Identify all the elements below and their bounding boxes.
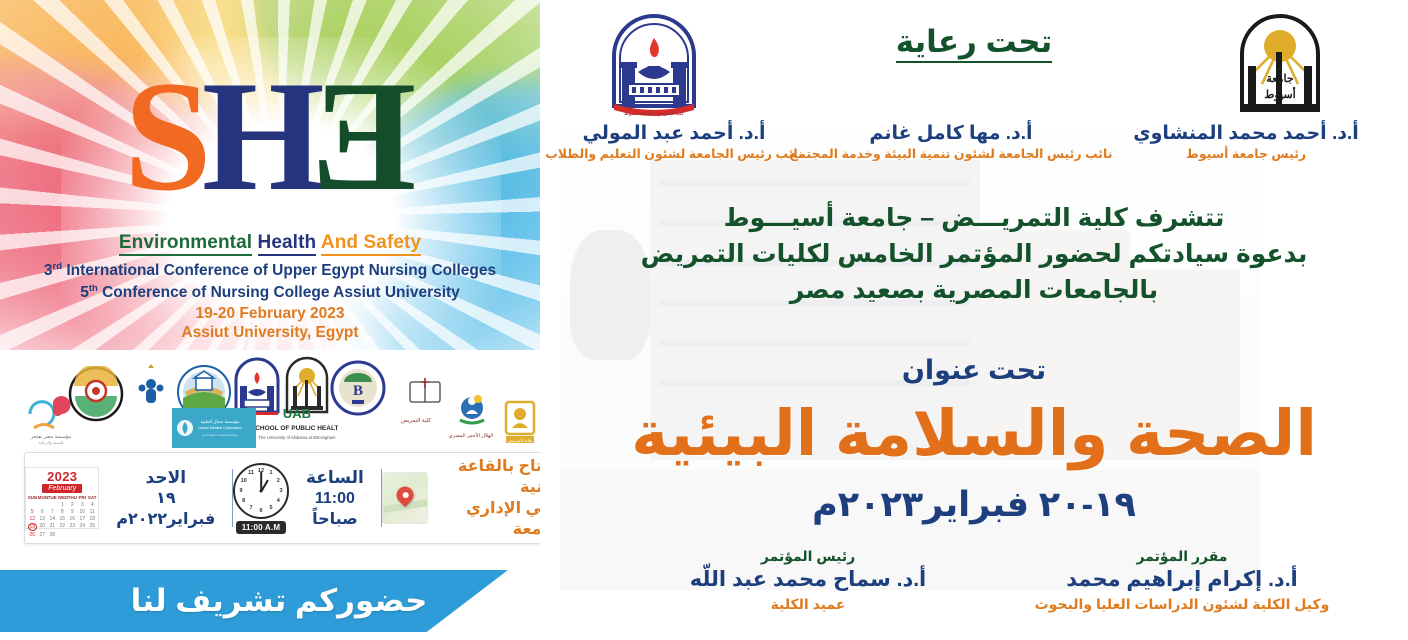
svg-text:a member of Gamal Group: a member of Gamal Group xyxy=(202,433,238,437)
conference-president: رئيس المؤتمر أ.د. سماح محمد عبد اللّه عم… xyxy=(638,546,978,614)
assiut-university-logo: جامعة أسيوط xyxy=(1220,10,1340,122)
main-content-panel: تحت رعاية كلية التمريض - xyxy=(540,0,1408,640)
main-date-text: ١٩-٢٠ فبراير٢٠٢٣م xyxy=(812,485,1136,524)
event-date-arabic: ١٩ فبراير٢٠٢٢م xyxy=(111,488,220,530)
svg-text:أسيوط: أسيوط xyxy=(1264,87,1295,101)
svg-text:UAB: UAB xyxy=(283,406,311,421)
partner-logo-gamal-medical-corporation-logo: مؤسسة جمال الطبية Gamal Medical Corporat… xyxy=(172,408,256,448)
under-title-label: تحت عنوان xyxy=(540,355,1408,386)
ehs-letter-h: H xyxy=(202,58,321,216)
tagline-environmental: Environmental xyxy=(119,232,252,256)
president-title: عميد الكلية xyxy=(638,594,978,614)
conf1-text: International Conference of Upper Egypt … xyxy=(62,262,496,279)
conference-place-english: Assiut University, Egypt xyxy=(0,323,540,342)
event-time-cell: 123456789101112 11:00 A.M الساعة 11:00 ص… xyxy=(233,453,381,543)
tagline-and-safety: And Safety xyxy=(321,232,421,256)
svg-text:SCHOOL OF PUBLIC HEALTH: SCHOOL OF PUBLIC HEALTH xyxy=(256,425,338,432)
svg-text:Gamal Medical Corporation: Gamal Medical Corporation xyxy=(198,426,242,430)
dignitary-2: أ.د. مها كامل غانم نائب رئيس الجامعة لشئ… xyxy=(786,122,1116,163)
map-pin-icon xyxy=(382,472,428,524)
conf1-number: 3 xyxy=(44,262,53,279)
conference-poster: EHS Environmental Health And Safety 3rd … xyxy=(0,0,1408,640)
footer-organizers: مقرر المؤتمر أ.د. إكرام إبراهيم محمد وكي… xyxy=(540,546,1408,636)
svg-text:الهلال الأحمر المصري: الهلال الأحمر المصري xyxy=(449,431,493,439)
event-day-name: الاحد xyxy=(111,467,220,488)
conf1-ordinal: rd xyxy=(53,261,63,272)
partner-logo-nursing-syndicate-logo: نقابة التمريض xyxy=(498,398,542,448)
dignitary-1-title: رئيس جامعة أسيوط xyxy=(1096,146,1396,163)
ehs-wordmark: EHS xyxy=(0,58,540,216)
patronage-title-text: تحت رعاية xyxy=(896,24,1053,63)
tagline-health: Health xyxy=(258,232,317,256)
event-date-text: الاحد ١٩ فبراير٢٠٢٢م xyxy=(99,467,232,530)
dignitary-1-name: أ.د. أحمد محمد المنشاوي xyxy=(1096,122,1396,146)
rapporteur-role: مقرر المؤتمر xyxy=(972,546,1392,566)
partner-logo-arab-council-logo xyxy=(68,366,124,422)
invitation-line-2: بدعوة سيادتكم لحضور المؤتمر الخامس لكليا… xyxy=(540,236,1408,272)
clock-time-badge: 11:00 A.M xyxy=(236,521,286,534)
dignitary-2-name: أ.د. مها كامل غانم xyxy=(786,122,1116,146)
event-details-bar: 2023 February SUNMONTUEWEDTHUFRISAT12345… xyxy=(24,452,588,544)
partner-logo-beni-suef-university-logo: B xyxy=(330,360,386,416)
president-role: رئيس المؤتمر xyxy=(638,546,978,566)
dignitary-3: أ.د. أحمد عبد المولي نائب رئيس الجامعة ل… xyxy=(540,122,808,163)
under-title-text: تحت عنوان xyxy=(902,355,1046,385)
conference-subtitles: 3rd International Conference of Upper Eg… xyxy=(0,258,540,342)
welcome-ribbon: حضوركم تشريف لنا xyxy=(0,570,508,632)
calendar-icon: 2023 February SUNMONTUEWEDTHUFRISAT12345… xyxy=(25,467,99,529)
conference-line-1: 3rd International Conference of Upper Eg… xyxy=(0,258,540,280)
dignitary-3-title: نائب رئيس الجامعة لشئون التعليم والطلاب xyxy=(540,146,808,163)
nursing-college-logo: كلية التمريض - جامعة أسيوط xyxy=(600,14,708,118)
calendar-year: 2023 xyxy=(47,470,77,483)
conference-date-english: 19-20 February 2023 xyxy=(0,304,540,323)
conference-line-2: 5th Conference of Nursing College Assiut… xyxy=(0,280,540,302)
rapporteur-name: أ.د. إكرام إبراهيم محمد xyxy=(972,566,1392,594)
ehs-letter-e: E xyxy=(315,58,416,216)
calendar-month: February xyxy=(42,484,82,493)
conf2-text: Conference of Nursing College Assiut Uni… xyxy=(98,284,460,301)
president-name: أ.د. سماح محمد عبد اللّه xyxy=(638,566,978,594)
partner-logos-row: مؤسسة مصر تفتخر للتنمية والرعاية xyxy=(6,352,538,450)
time-label: الساعة xyxy=(301,467,369,488)
partner-logo-red-crescent-society-logo: الهلال الأحمر المصري xyxy=(438,382,500,442)
conference-main-date: ١٩-٢٠ فبراير٢٠٢٣م xyxy=(540,485,1408,525)
svg-text:B: B xyxy=(353,383,363,399)
conf2-ordinal: th xyxy=(89,283,98,294)
time-value: 11:00 صباحاً xyxy=(301,488,369,530)
dignitary-2-title: نائب رئيس الجامعة لشئون تنمية البيئة وخد… xyxy=(786,146,1116,163)
partner-logo-uab-school-of-public-health-logo: UAB SCHOOL OF PUBLIC HEALTH The Universi… xyxy=(256,404,338,448)
svg-text:للتنمية والرعاية: للتنمية والرعاية xyxy=(38,440,63,445)
svg-text:The University of Alabama at B: The University of Alabama at Birmingham xyxy=(258,435,336,440)
conference-main-title: الصحة والسلامة البيئية xyxy=(540,398,1408,470)
main-title-text: الصحة والسلامة البيئية xyxy=(631,399,1317,469)
event-date-cell: 2023 February SUNMONTUEWEDTHUFRISAT12345… xyxy=(25,453,232,543)
calendar-grid: SUNMONTUEWEDTHUFRISAT1234567891011121314… xyxy=(28,495,97,538)
conference-rapporteur: مقرر المؤتمر أ.د. إكرام إبراهيم محمد وكي… xyxy=(972,546,1392,614)
logo-panel: EHS Environmental Health And Safety 3rd … xyxy=(0,0,540,350)
event-time-text: الساعة 11:00 صباحاً xyxy=(289,467,381,530)
dignitary-1: أ.د. أحمد محمد المنشاوي رئيس جامعة أسيوط xyxy=(1096,122,1396,163)
invitation-line-1: تتشرف كلية التمريـــض – جامعة أسيـــوط xyxy=(540,200,1408,236)
ehs-letter-s: S xyxy=(124,58,208,216)
welcome-ribbon-text: حضوركم تشريف لنا xyxy=(131,583,428,619)
ehs-tagline: Environmental Health And Safety xyxy=(0,232,540,254)
svg-text:كلية التمريض - جامعة أسيوط: كلية التمريض - جامعة أسيوط xyxy=(624,109,684,117)
svg-text:كلية التمريض: كلية التمريض xyxy=(401,417,431,424)
dignitary-3-name: أ.د. أحمد عبد المولي xyxy=(540,122,808,146)
clock-icon: 123456789101112 11:00 A.M xyxy=(233,462,289,534)
conf2-number: 5 xyxy=(80,284,89,301)
invitation-line-3: بالجامعات المصرية بصعيد مصر xyxy=(540,272,1408,308)
invitation-text: تتشرف كلية التمريـــض – جامعة أسيـــوط ب… xyxy=(540,200,1408,308)
svg-text:نقابة التمريض: نقابة التمريض xyxy=(507,438,532,443)
patronage-dignitaries: أ.د. أحمد محمد المنشاوي رئيس جامعة أسيوط… xyxy=(540,118,1408,196)
rapporteur-title: وكيل الكلية لشئون الدراسات العليا والبحو… xyxy=(972,594,1392,614)
svg-text:جامعة: جامعة xyxy=(1266,73,1293,85)
